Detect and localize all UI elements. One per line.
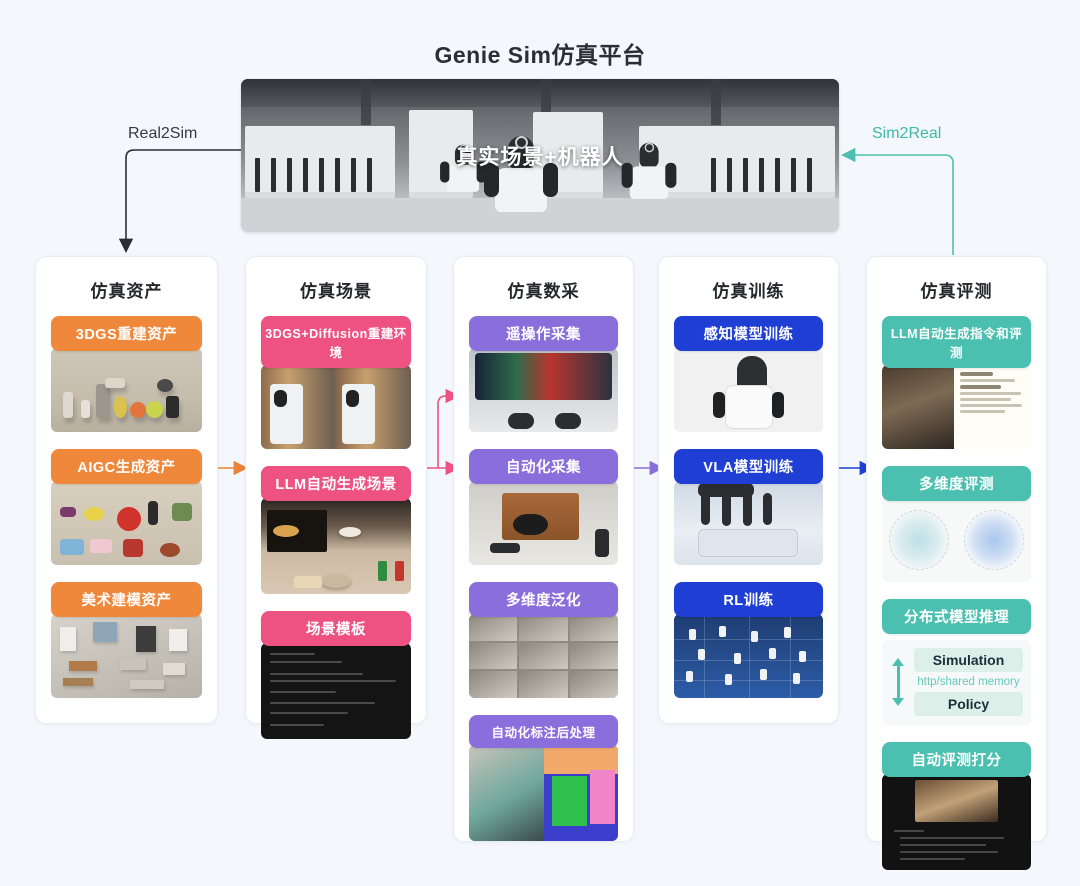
card-perception-training[interactable]: 感知模型训练 [674,316,823,432]
column-title: 仿真训练 [659,277,838,302]
infra-diagram: Simulation http/shared memory Policy [882,640,1031,725]
card-label: RL训练 [674,582,823,617]
card-thumbnail [674,614,823,698]
card-multidim-evaluation[interactable]: 多维度评测 [882,466,1031,582]
card-thumbnail [674,348,823,432]
hero-beam [711,79,721,125]
column-panel-eval: 仿真评测 LLM自动生成指令和评测 多维度评测 [866,256,1047,842]
card-3dgs-assets[interactable]: 3DGS重建资产 [51,316,202,432]
card-auto-scoring[interactable]: 自动评测打分 [882,742,1031,870]
card-thumbnail [469,348,618,432]
card-thumbnail [882,774,1031,870]
hero-image: 真实场景+机器人 [241,79,839,232]
card-aigc-assets[interactable]: AIGC生成资产 [51,449,202,565]
card-thumbnail [51,614,202,698]
sim2real-label: Sim2Real [872,125,941,143]
radar-chart-left [889,510,949,570]
card-thumbnail [674,481,823,565]
card-thumbnail [51,481,202,565]
card-llm-instruction-eval[interactable]: LLM自动生成指令和评测 [882,316,1031,449]
card-distributed-inference[interactable]: 分布式模型推理 Simulation http/shared memory Po… [882,599,1031,725]
card-label: LLM自动生成场景 [261,466,411,501]
column-title: 仿真场景 [246,277,426,302]
column-panel-data: 仿真数采 遥操作采集 自动化采集 多维度泛化 [453,256,634,842]
card-thumbnail [469,614,618,698]
card-label: LLM自动生成指令和评测 [882,316,1031,368]
card-label: 美术建模资产 [51,582,202,617]
card-thumbnail [469,481,618,565]
column-panel-training: 仿真训练 感知模型训练 VLA模型训练 [658,256,839,724]
scenes-to-teleop-connector [438,396,452,468]
real2sim-label: Real2Sim [128,125,197,143]
card-thumbnail [882,498,1031,582]
card-thumbnail [261,498,411,594]
hero-caption: 真实场景+机器人 [241,141,839,171]
card-auto-annotation-postprocess[interactable]: 自动化标注后处理 [469,715,618,841]
card-label: 场景模板 [261,611,411,646]
card-rl-training[interactable]: RL训练 [674,582,823,698]
page-title: Genie Sim仿真平台 [0,36,1080,70]
card-thumbnail [51,348,202,432]
card-label: AIGC生成资产 [51,449,202,484]
card-label: 自动化标注后处理 [469,715,618,748]
column-title: 仿真资产 [36,277,217,302]
card-thumbnail [469,745,618,841]
card-multidim-generalization[interactable]: 多维度泛化 [469,582,618,698]
column-panel-assets: 仿真资产 3DGS重建资产 AIGC生成资产 [35,256,218,724]
hero-ceiling [241,79,839,107]
card-thumbnail [882,365,1031,449]
sim2real-connector [849,155,953,255]
card-label: 自动化采集 [469,449,618,484]
column-panel-scenes: 仿真场景 3DGS+Diffusion重建环境 LLM自动生成场景 [245,256,427,724]
card-llm-scene-gen[interactable]: LLM自动生成场景 [261,466,411,594]
hero-beam [361,79,371,125]
card-thumbnail [261,365,411,449]
card-label: 自动评测打分 [882,742,1031,777]
radar-chart-right [964,510,1024,570]
column-title: 仿真评测 [867,277,1046,302]
card-label: 感知模型训练 [674,316,823,351]
column-title: 仿真数采 [454,277,633,302]
policy-chip: Policy [914,692,1023,716]
card-label: 遥操作采集 [469,316,618,351]
card-thumbnail [261,643,411,739]
card-label: 分布式模型推理 [882,599,1031,634]
card-automated-collection[interactable]: 自动化采集 [469,449,618,565]
real2sim-connector [126,150,241,245]
card-label: VLA模型训练 [674,449,823,484]
card-scene-template[interactable]: 场景模板 [261,611,411,739]
simulation-chip: Simulation [914,648,1023,672]
card-label: 多维度泛化 [469,582,618,617]
card-label: 3DGS+Diffusion重建环境 [261,316,411,368]
bidirectional-arrow-icon [890,658,906,706]
transport-label: http/shared memory [914,672,1023,692]
card-label: 多维度评测 [882,466,1031,501]
card-art-modeling-assets[interactable]: 美术建模资产 [51,582,202,698]
card-vla-training[interactable]: VLA模型训练 [674,449,823,565]
card-teleop-collection[interactable]: 遥操作采集 [469,316,618,432]
card-label: 3DGS重建资产 [51,316,202,351]
card-3dgs-diffusion-env[interactable]: 3DGS+Diffusion重建环境 [261,316,411,449]
